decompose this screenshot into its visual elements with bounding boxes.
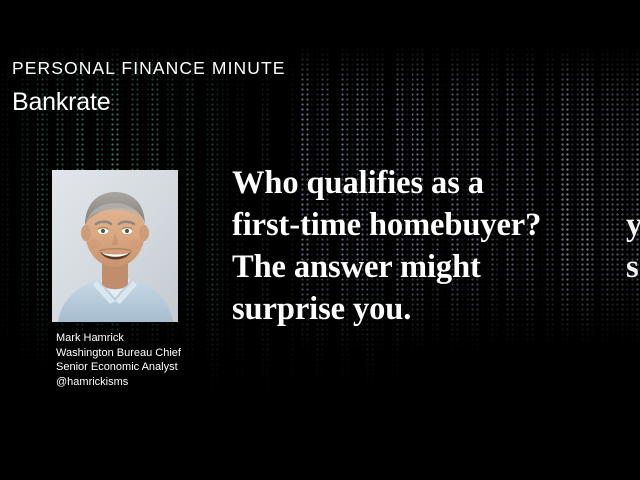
video-player-frame: PERSONAL FINANCE MINUTE Bankrate — [0, 0, 640, 480]
speaker-credits: Mark Hamrick Washington Bureau Chief Sen… — [56, 331, 181, 389]
speaker-name: Mark Hamrick — [56, 331, 181, 346]
speaker-portrait — [52, 170, 178, 322]
headline-line-1: Who qualifies as a — [232, 162, 640, 204]
video-canvas: PERSONAL FINANCE MINUTE Bankrate — [0, 42, 640, 420]
headline-line-3: The answer might — [232, 246, 640, 288]
speaker-handle: @hamrickisms — [56, 375, 181, 390]
bankrate-logo: Bankrate — [12, 90, 286, 115]
speaker-title-1: Washington Bureau Chief — [56, 346, 181, 361]
branding-block: PERSONAL FINANCE MINUTE Bankrate — [12, 60, 286, 115]
speaker-block: Mark Hamrick Washington Bureau Chief Sen… — [52, 170, 181, 389]
headline-line-2: first-time homebuyer? — [232, 204, 640, 246]
portrait-illustration — [52, 170, 178, 322]
headline-line-4: surprise you. — [232, 288, 640, 330]
letterbox-bottom-bar — [0, 420, 640, 480]
series-title: PERSONAL FINANCE MINUTE — [12, 60, 286, 78]
headline-text: Who qualifies as a first-time homebuyer?… — [232, 162, 640, 330]
letterbox-top-bar — [0, 0, 640, 42]
speaker-title-2: Senior Economic Analyst — [56, 360, 181, 375]
